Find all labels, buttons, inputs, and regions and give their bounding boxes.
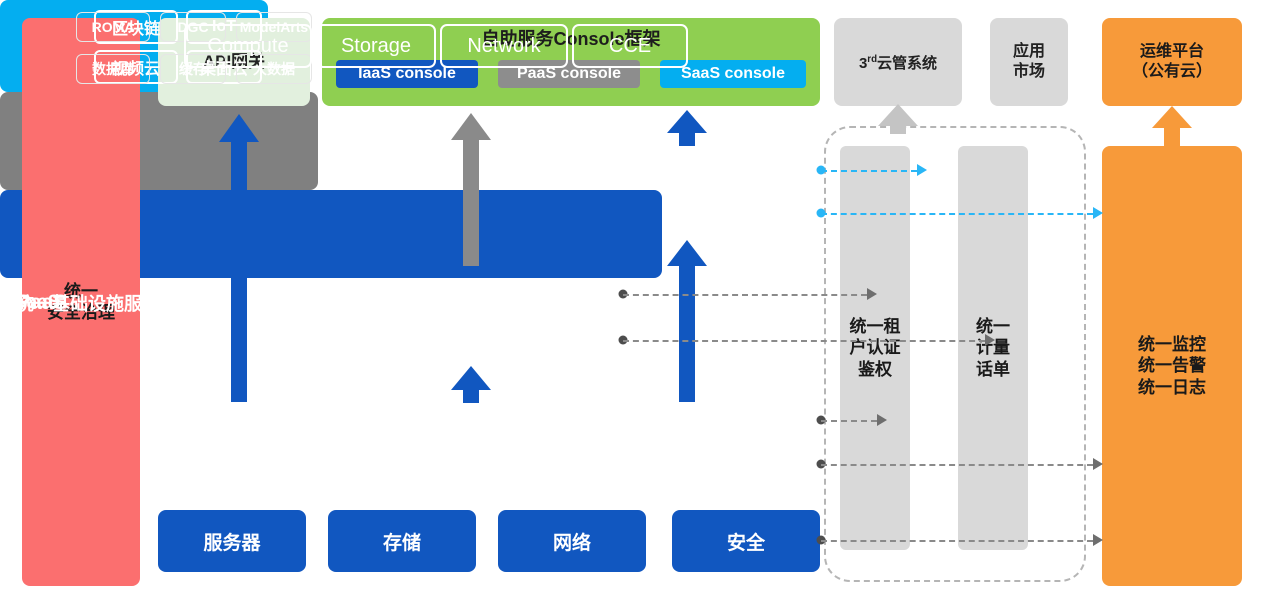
connector-saas-to-auth [821, 170, 917, 172]
connector-hardware-to-ops [821, 540, 1093, 542]
unified-metering-column: 统一 计量 话单 [958, 146, 1028, 550]
hardware-box-security: 安全 [672, 510, 820, 572]
infra-chip-compute[interactable]: Compute [184, 24, 312, 68]
hardware-box-network: 网络 [498, 510, 646, 572]
paas-chip-database[interactable]: 数据库 [76, 54, 150, 84]
connector-arrow-infra-to-auth [877, 414, 887, 426]
arrow-ops-column-to-ops-top [1152, 106, 1192, 146]
unified-infrastructure-title: 统一基础设施服务 [16, 290, 160, 316]
arrow-infra-to-saas [667, 240, 707, 402]
hardware-box-storage: 存储 [328, 510, 476, 572]
infra-chip-storage[interactable]: Storage [316, 24, 436, 68]
connector-arrow-saas-to-ops [1093, 207, 1103, 219]
ops-platform-column: 统一监控 统一告警 统一日志 [1102, 146, 1242, 586]
ops-platform-box: 运维平台 （公有云） [1102, 18, 1242, 106]
connector-saas-to-ops [821, 213, 1093, 215]
arrow-infra-to-paas [451, 366, 491, 403]
hardware-box-server: 服务器 [158, 510, 306, 572]
third-party-label: 3rd云管系统 [859, 52, 937, 73]
infra-chip-cce[interactable]: CCE [572, 24, 688, 68]
unified-tenant-auth-column: 统一租 户认证 鉴权 [840, 146, 910, 550]
connector-infra-to-ops [821, 464, 1093, 466]
connector-arrow-paas-to-metering [985, 334, 995, 346]
app-market-box: 应用 市场 [990, 18, 1068, 106]
arrow-saas-to-console [667, 110, 707, 146]
connector-arrow-hardware-to-ops [1093, 534, 1103, 546]
connector-arrow-infra-to-ops [1093, 458, 1103, 470]
paas-chip-roma[interactable]: ROMA [76, 12, 150, 42]
connector-arrow-saas-to-auth [917, 164, 927, 176]
infra-chip-network[interactable]: Network [440, 24, 568, 68]
connector-paas-to-auth [623, 294, 867, 296]
connector-paas-to-metering [623, 340, 985, 342]
connector-arrow-paas-to-auth [867, 288, 877, 300]
connector-infra-to-auth [821, 420, 877, 422]
third-party-cloud-mgmt-box: 3rd云管系统 [834, 18, 962, 106]
architecture-diagram: 统一 安全治理 API网关 自助服务Console框架 IaaS console… [0, 0, 1265, 605]
